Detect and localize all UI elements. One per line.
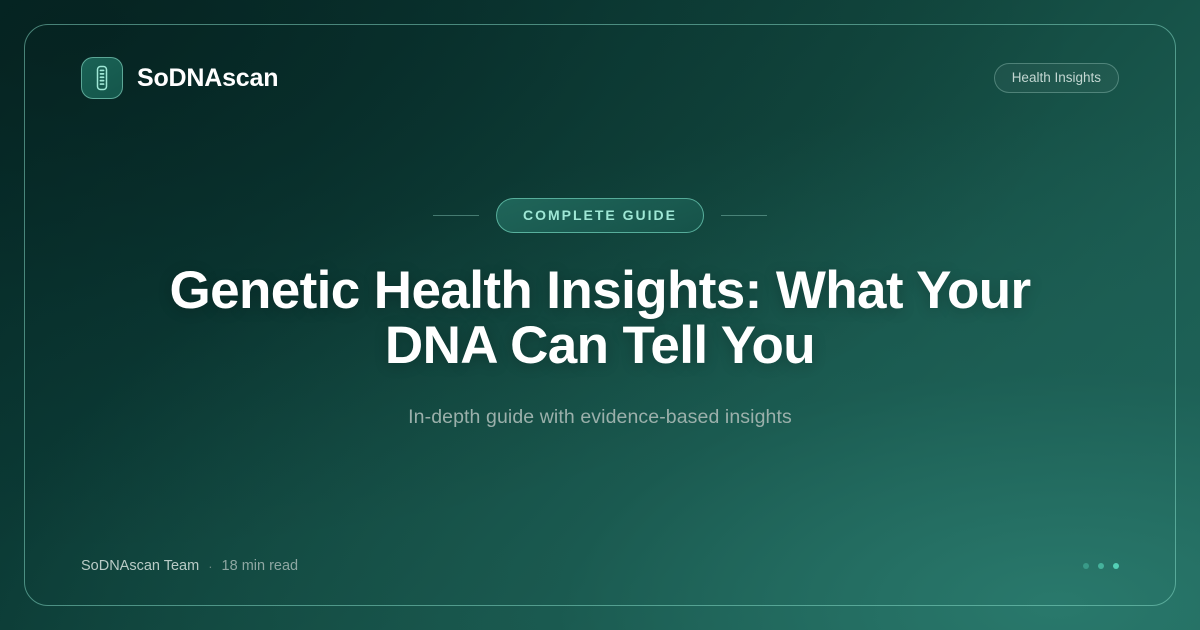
brand-lockup[interactable]: SoDNAscan: [81, 57, 278, 99]
og-card: SoDNAscan Health Insights COMPLETE GUIDE…: [24, 24, 1176, 606]
dna-strip-icon: [81, 57, 123, 99]
dot-icon: [1113, 563, 1119, 569]
dot-icon: [1098, 563, 1104, 569]
eyebrow-badge[interactable]: COMPLETE GUIDE: [496, 198, 704, 233]
meta-separator: ·: [208, 560, 212, 573]
page-subtitle: In-depth guide with evidence-based insig…: [408, 404, 792, 430]
author-name: SoDNAscan Team: [81, 559, 199, 574]
decorative-dots: [1083, 563, 1119, 569]
card-footer: SoDNAscan Team · 18 min read: [81, 555, 1119, 577]
card-header: SoDNAscan Health Insights: [81, 57, 1119, 99]
page-title: Genetic Health Insights: What Your DNA C…: [160, 263, 1040, 374]
dot-icon: [1083, 563, 1089, 569]
read-time: 18 min read: [222, 559, 299, 574]
hero-block: COMPLETE GUIDE Genetic Health Insights: …: [81, 99, 1119, 555]
rule-left: [433, 215, 479, 216]
eyebrow-row: COMPLETE GUIDE: [433, 198, 767, 233]
brand-name: SoDNAscan: [137, 66, 278, 91]
article-meta: SoDNAscan Team · 18 min read: [81, 559, 298, 574]
status-badge[interactable]: Health Insights: [994, 63, 1119, 93]
rule-right: [721, 215, 767, 216]
